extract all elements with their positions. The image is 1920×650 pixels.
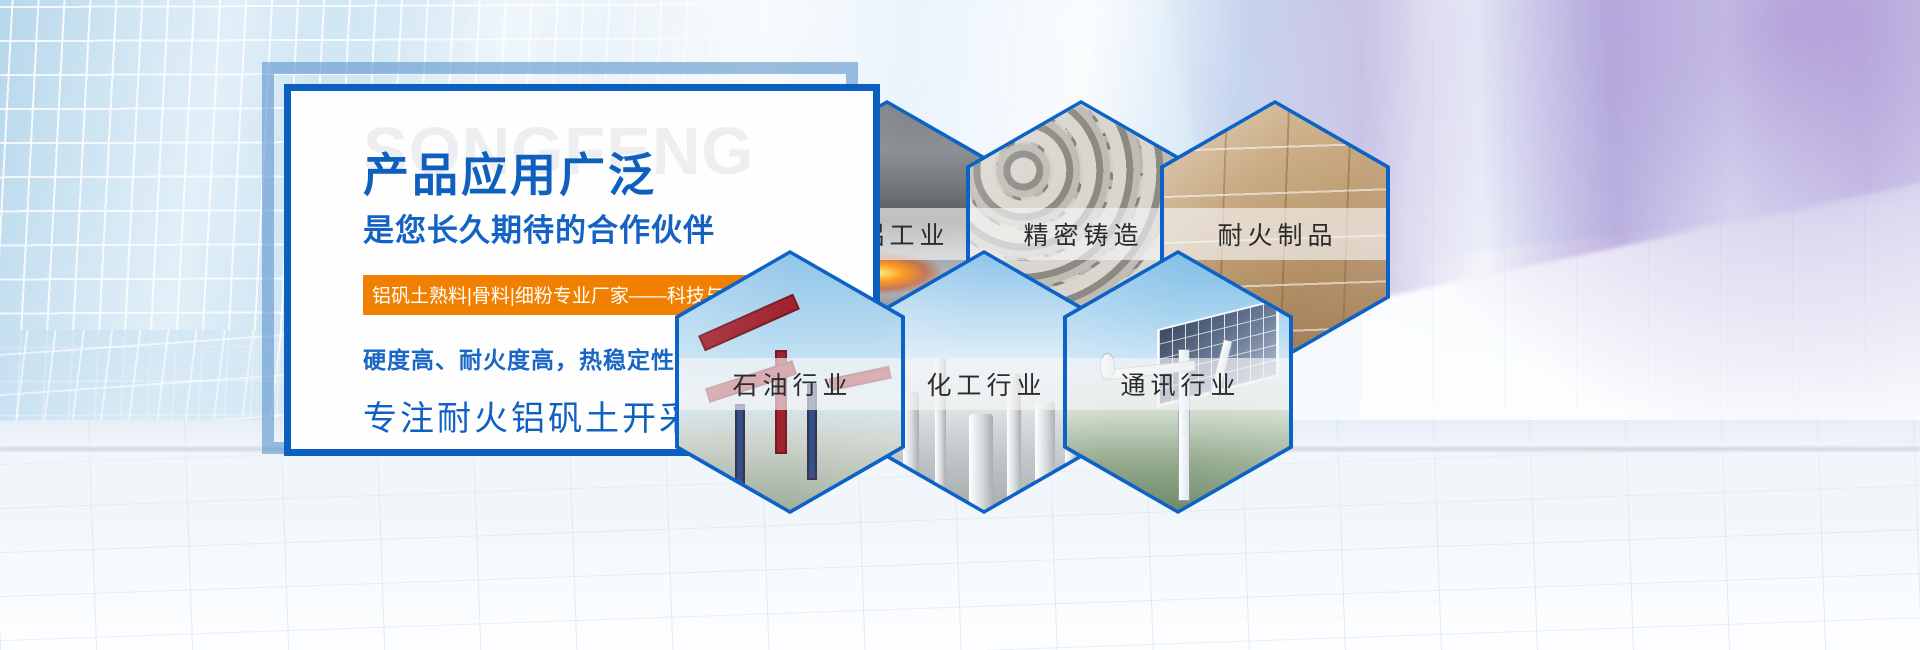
page-subtitle: 是您长久期待的合作伙伴 (363, 205, 715, 250)
hex-label-oil-industry-overlay: 石油行业 (679, 358, 901, 410)
hex-label-precision-casting: 精密铸造 (970, 208, 1192, 260)
banner-stage: 炼铝工业 精密铸造 耐火制品 (0, 0, 1920, 650)
page-title: 产品应用广泛 (363, 139, 657, 205)
hex-label-refractory-products: 耐火制品 (1164, 208, 1386, 260)
hex-label-telecom-industry: 通讯行业 (1067, 358, 1289, 410)
hex-label-chemical-industry: 化工行业 (873, 358, 1095, 410)
